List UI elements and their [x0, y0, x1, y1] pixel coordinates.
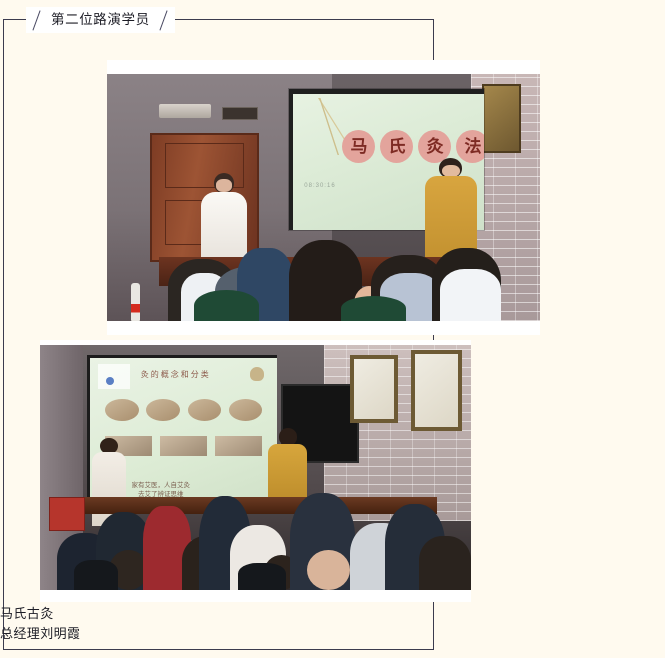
- caption-line-company: 马氏古灸: [0, 604, 300, 624]
- photo-block-1: 马 氏 灸 法 08:30:16: [107, 60, 540, 335]
- photo2-slide-badge: [98, 364, 130, 389]
- section-heading: 第二位路演学员: [26, 7, 175, 33]
- caption-block: 马氏古灸 总经理刘明霞: [0, 604, 300, 644]
- slash-left-icon: [32, 10, 42, 30]
- photo2-slide-image-row-top: [105, 399, 262, 421]
- photo1-audience: [107, 217, 540, 321]
- slide-char-1: 马: [342, 130, 375, 163]
- photo1-water-bottle: [131, 283, 140, 321]
- photo2-picture-frame-1: [350, 355, 397, 424]
- photo2-picture-frame-2: [411, 350, 463, 431]
- photo1-wall-sign: [222, 107, 259, 120]
- photo2-slide-title: 灸的概念和分类: [141, 369, 211, 380]
- caption-line-person: 总经理刘明霞: [0, 624, 300, 644]
- slash-right-icon: [159, 10, 169, 30]
- lecture-photo-presentation-screen: 马 氏 灸 法 08:30:16: [107, 74, 540, 321]
- photo1-wall-picture-frame: [482, 84, 521, 153]
- section-heading-label: 第二位路演学员: [51, 13, 150, 27]
- slide-char-2: 氏: [380, 130, 413, 163]
- photo2-slide-image-row-bottom: [105, 436, 262, 456]
- photo2-audience: [40, 455, 471, 590]
- photo2-slide-logo-icon: [250, 367, 264, 381]
- photo1-ceiling-unit: [159, 104, 211, 119]
- lecture-photo-audience-wide: 灸的概念和分类 家有艾医，人自艾灸 去艾了辨证思维: [40, 345, 471, 590]
- photo-block-2: 灸的概念和分类 家有艾医，人自艾灸 去艾了辨证思维: [40, 340, 471, 602]
- photo1-slide-timestamp: 08:30:16: [304, 183, 335, 189]
